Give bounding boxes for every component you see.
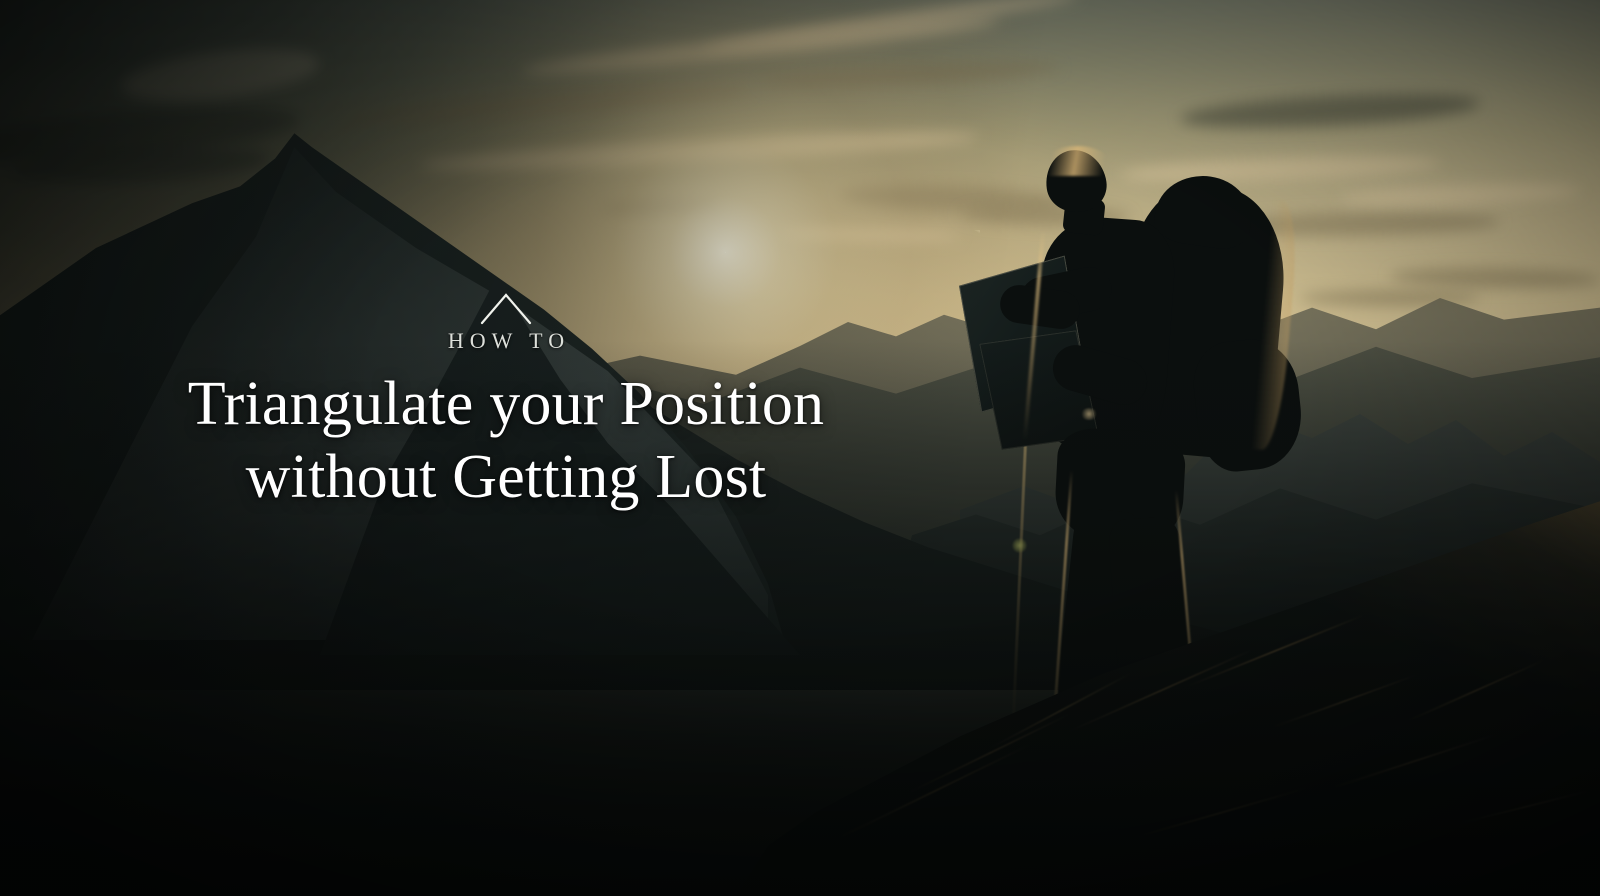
hand-rimlight [1080,408,1098,420]
hair-rimlight [1046,146,1108,176]
sun-glow [725,252,726,253]
lens-flare [1012,538,1027,553]
headline-line-2: without Getting Lost [150,441,862,514]
hero-banner: HOW TO Triangulate your Position without… [0,0,1600,896]
mountain-peak-chevron-icon [479,290,533,326]
eyebrow-group: HOW TO [150,290,862,354]
page-title: Triangulate your Position without Gettin… [150,368,862,514]
hero-text-block: HOW TO Triangulate your Position without… [150,290,862,514]
headline-line-1: Triangulate your Position [150,368,862,441]
eyebrow-label: HOW TO [448,328,570,354]
